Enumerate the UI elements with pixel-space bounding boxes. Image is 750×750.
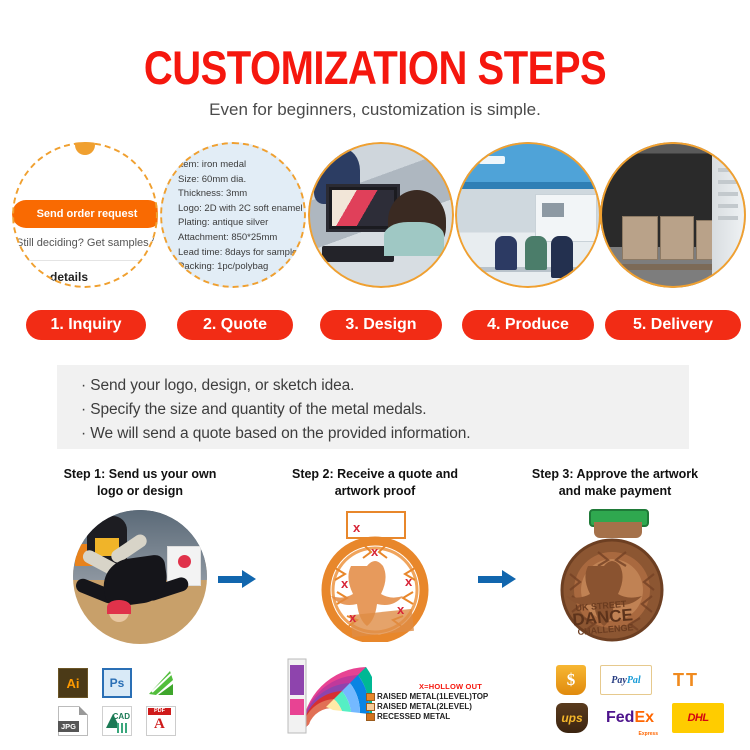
accepted-file-formats: Ai Ps JPG CAD PDF [58, 668, 198, 744]
spec-item: Plating: antique silver [178, 216, 306, 231]
trade-assurance-icon: $ [556, 665, 586, 695]
designer-at-computer-photo [308, 142, 454, 288]
svg-text:x: x [349, 610, 357, 625]
column-heading-line1: Step 1: Send us your own [15, 466, 265, 483]
step-3-design: 3. Design [308, 142, 454, 288]
page-subtitle: Even for beginners, customization is sim… [0, 100, 750, 120]
instruction-line: · Send your logo, design, or sketch idea… [81, 374, 689, 398]
legend-swatch [366, 713, 375, 721]
instruction-line: · Specify the size and quantity of the m… [81, 398, 689, 422]
step-2-quote: Item: iron medal Size: 60mm dia. Thickne… [160, 142, 306, 288]
column-step-2: Step 2: Receive a quote and artwork proo… [250, 466, 500, 642]
paypal-icon: PayPal [600, 665, 652, 695]
finished-bronze-medal-photo: UK STREET DANCE CHALLENGE [550, 504, 680, 644]
fedex-label-a: Fed [606, 709, 634, 727]
column-heading-line2: artwork proof [250, 483, 500, 500]
step-label-1: 1. Inquiry [26, 310, 146, 340]
legend-label: RAISED METAL(1LEVEL)TOP [377, 692, 488, 701]
step-4-circle-image [455, 142, 601, 288]
step-3-circle-image [308, 142, 454, 288]
cad-label: CAD [113, 712, 130, 721]
paypal-label-a: Pay [611, 675, 627, 686]
spec-item: Packing: 1pc/polybag [178, 260, 306, 275]
legend-item: RAISED METAL(1LEVEL)TOP [366, 692, 526, 701]
step-label-2: 2. Quote [177, 310, 293, 340]
spec-item: Thickness: 3mm [178, 187, 306, 202]
instructions-box: · Send your logo, design, or sketch idea… [57, 365, 689, 449]
pantone-color-fan-guide [286, 657, 372, 735]
svg-text:x: x [353, 520, 361, 535]
step-4-produce: 4. Produce [455, 142, 601, 288]
cdr-file-icon [146, 668, 176, 698]
legend-item: RAISED METAL(2LEVEL) [366, 702, 526, 711]
steps-row: Send order request Still deciding? Get s… [0, 142, 750, 352]
instruction-line: · We will send a quote based on the prov… [81, 422, 689, 446]
jpg-file-icon: JPG [58, 706, 88, 736]
legend-item: RECESSED METAL [366, 712, 526, 721]
divider [22, 260, 142, 261]
quote-spec-list: Item: iron medal Size: 60mm dia. Thickne… [160, 142, 306, 275]
ps-file-icon: Ps [102, 668, 132, 698]
spec-item: Attachment: 850*25mm [178, 231, 306, 246]
step-label-3: 3. Design [320, 310, 442, 340]
step-label-4: 4. Produce [462, 310, 594, 340]
spec-item: Lead time: 8days for sample [178, 246, 306, 261]
medal-artwork-proof: xxx xxx [311, 508, 439, 642]
step-2-circle-image: Item: iron medal Size: 60mm dia. Thickne… [160, 142, 306, 288]
tt-icon: TT [666, 665, 706, 695]
step-5-circle-image [600, 142, 746, 288]
legend-label: RECESSED METAL [377, 712, 450, 721]
legend-label: RAISED METAL(2LEVEL) [377, 702, 472, 711]
paypal-label-b: Pal [627, 675, 641, 686]
svg-text:x: x [341, 576, 349, 591]
svg-text:x: x [397, 602, 405, 617]
fedex-label-b: Ex [634, 709, 654, 727]
spec-item: Item: iron medal [178, 158, 306, 173]
ups-icon: ups [556, 703, 588, 733]
step-5-delivery: 5. Delivery [600, 142, 746, 288]
loading-truck-photo [600, 142, 746, 288]
pdf-file-icon: PDF A [146, 706, 176, 736]
payment-and-shipping-icons: $ PayPal TT ups FedEx Express DHL [556, 665, 746, 741]
pdf-label: PDF [148, 708, 171, 715]
svg-text:x: x [371, 544, 379, 559]
right-arrow-1 [218, 570, 258, 588]
step-label-5: 5. Delivery [605, 310, 741, 340]
breakdancer-photo [73, 510, 207, 644]
column-step-1: Step 1: Send us your own logo or design [15, 466, 265, 644]
column-heading-line1: Step 2: Receive a quote and [250, 466, 500, 483]
fedex-sub: Express [639, 731, 658, 737]
svg-text:x: x [405, 574, 413, 589]
legend-title: X=HOLLOW OUT [366, 682, 482, 691]
column-heading-line2: and make payment [490, 483, 740, 500]
factory-cnc-workshop-photo [455, 142, 601, 288]
spec-item: Size: 60mm dia. [178, 173, 306, 188]
step-1-circle-image: Send order request Still deciding? Get s… [12, 142, 158, 288]
header: CUSTOMIZATION STEPS Even for beginners, … [0, 0, 750, 120]
dhl-icon: DHL [672, 703, 724, 733]
right-arrow-2 [478, 570, 518, 588]
ai-file-icon: Ai [58, 668, 88, 698]
column-step-3: Step 3: Approve the artwork and make pay… [490, 466, 740, 644]
customization-steps-infographic: CUSTOMIZATION STEPS Even for beginners, … [0, 0, 750, 750]
details-link[interactable]: details [50, 270, 88, 284]
cad-file-icon: CAD [102, 706, 132, 736]
spec-item: Logo: 2D with 2C soft enamel [178, 202, 306, 217]
samples-hint-text: Still deciding? Get samples first [16, 237, 158, 249]
legend-swatch [366, 693, 375, 701]
column-heading-line1: Step 3: Approve the artwork [490, 466, 740, 483]
legend-swatch [366, 703, 375, 711]
artwork-legend: X=HOLLOW OUT RAISED METAL(1LEVEL)TOP RAI… [366, 682, 526, 721]
column-heading-line2: logo or design [15, 483, 265, 500]
send-order-request-button[interactable]: Send order request [12, 200, 158, 228]
inquiry-order-form-screenshot: Send order request Still deciding? Get s… [12, 142, 158, 288]
page-title: CUSTOMIZATION STEPS [0, 44, 750, 94]
fedex-icon: FedEx Express [602, 703, 658, 733]
jpg-label: JPG [58, 721, 79, 732]
quote-spec-sheet: Item: iron medal Size: 60mm dia. Thickne… [160, 142, 306, 288]
step-1-inquiry: Send order request Still deciding? Get s… [12, 142, 158, 288]
